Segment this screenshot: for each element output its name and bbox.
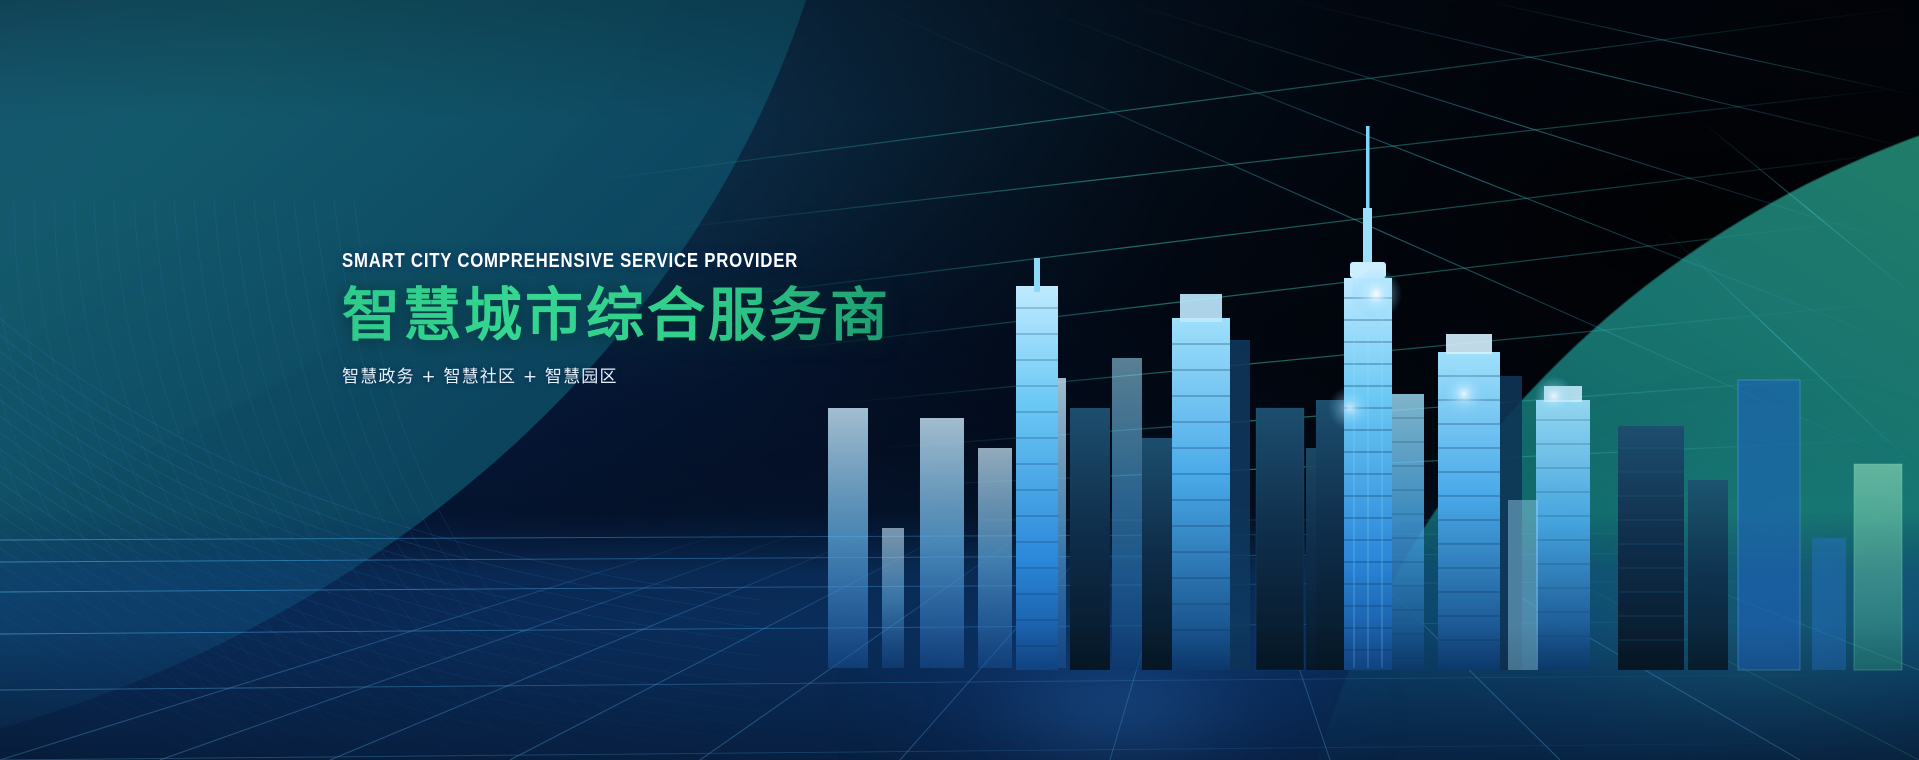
hero-banner: SMART CITY COMPREHENSIVE SERVICE PROVIDE… — [0, 0, 1919, 760]
decor-city-skyline — [820, 108, 1919, 708]
hero-subline: 智慧政务 + 智慧社区 + 智慧园区 — [342, 362, 982, 387]
hero-text-block: SMART CITY COMPREHENSIVE SERVICE PROVIDE… — [342, 250, 982, 387]
hero-headline: 智慧城市综合服务商 — [342, 285, 982, 346]
hero-tagline: SMART CITY COMPREHENSIVE SERVICE PROVIDE… — [342, 250, 880, 273]
